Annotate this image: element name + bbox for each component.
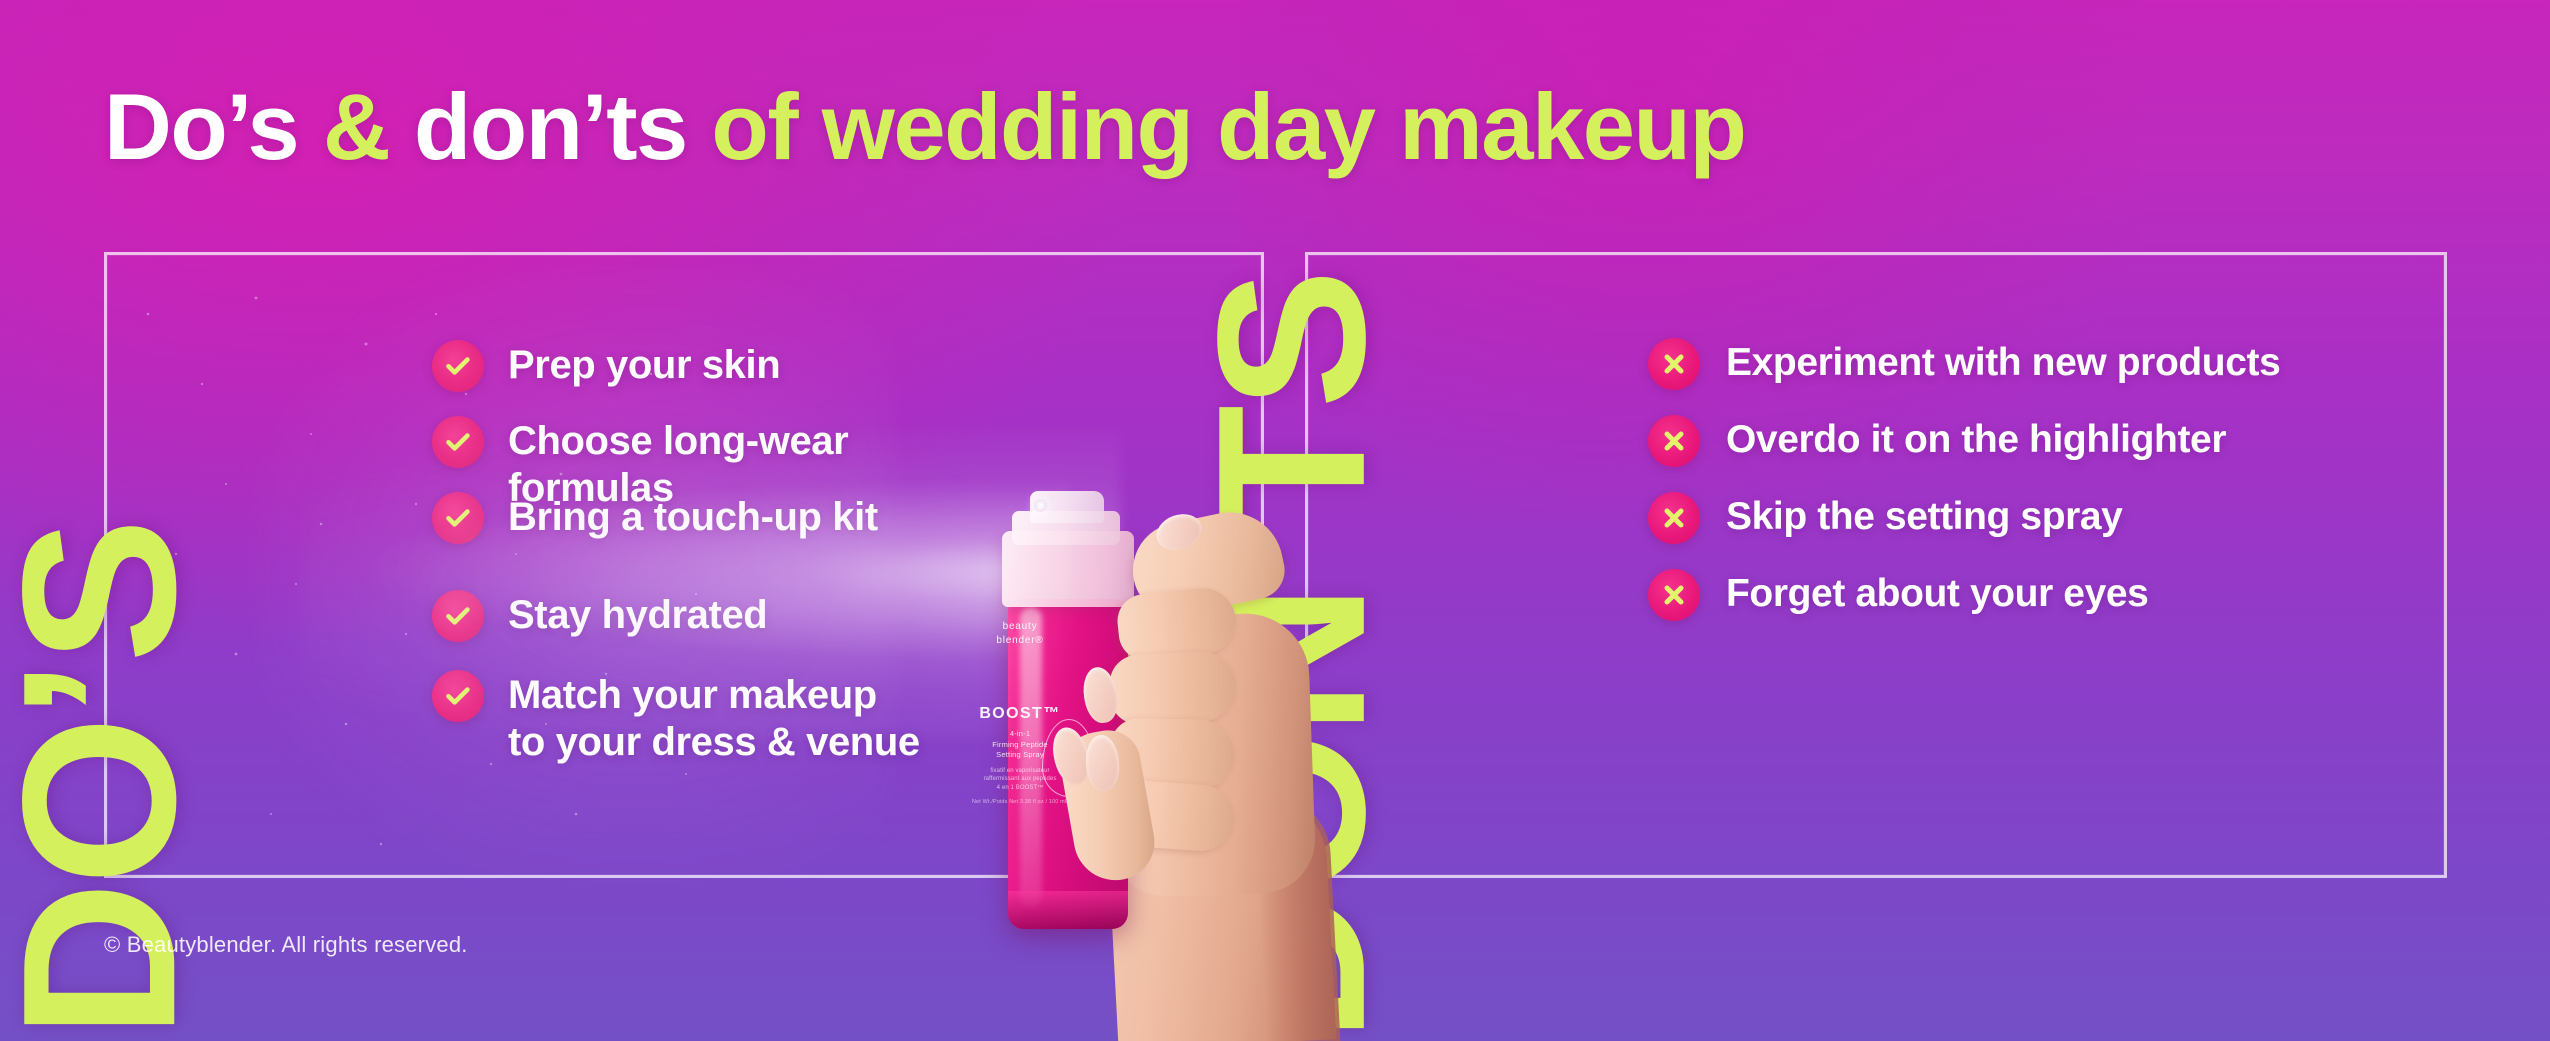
cross-icon bbox=[1648, 338, 1700, 390]
list-item-label: Prep your skin bbox=[508, 340, 780, 389]
list-item: Experiment with new products bbox=[1648, 338, 2280, 390]
list-item-label: Overdo it on the highlighter bbox=[1726, 415, 2226, 463]
infographic-canvas: Do’s & don’ts of wedding day makeup DO’S bbox=[0, 0, 2550, 1041]
list-item-label: Forget about your eyes bbox=[1726, 569, 2148, 617]
finger bbox=[1108, 650, 1237, 726]
headline-segment-dos: Do’s bbox=[104, 74, 323, 179]
list-item: Match your makeup to your dress & venue bbox=[432, 670, 920, 766]
list-item: Overdo it on the highlighter bbox=[1648, 415, 2226, 467]
check-icon bbox=[432, 492, 484, 544]
check-icon bbox=[432, 590, 484, 642]
list-item-label: Experiment with new products bbox=[1726, 338, 2280, 386]
list-item-label: Skip the setting spray bbox=[1726, 492, 2122, 540]
cross-icon bbox=[1648, 415, 1700, 467]
bottle-highlight bbox=[1020, 607, 1042, 907]
dos-section-label: DO’S bbox=[11, 522, 190, 1039]
headline-segment-tail: of wedding day makeup bbox=[711, 74, 1745, 179]
list-item: Skip the setting spray bbox=[1648, 492, 2122, 544]
cross-icon bbox=[1648, 569, 1700, 621]
check-icon bbox=[432, 416, 484, 468]
list-item: Bring a touch-up kit bbox=[432, 492, 878, 544]
check-icon bbox=[432, 670, 484, 722]
list-item: Forget about your eyes bbox=[1648, 569, 2148, 621]
page-title: Do’s & don’ts of wedding day makeup bbox=[104, 78, 1745, 177]
cross-icon bbox=[1648, 492, 1700, 544]
bottle-base-shadow bbox=[1008, 891, 1128, 929]
headline-ampersand: & bbox=[323, 74, 389, 179]
check-icon bbox=[432, 340, 484, 392]
list-item-label: Stay hydrated bbox=[508, 590, 767, 639]
list-item: Prep your skin bbox=[432, 340, 780, 392]
list-item: Stay hydrated bbox=[432, 590, 767, 642]
list-item-label: Match your makeup to your dress & venue bbox=[508, 670, 920, 766]
nozzle-aperture bbox=[1034, 499, 1047, 512]
list-item-label: Bring a touch-up kit bbox=[508, 492, 878, 541]
copyright-notice: © Beautyblender. All rights reserved. bbox=[104, 932, 468, 958]
headline-segment-donts: don’ts bbox=[389, 74, 711, 179]
hand-holding-product-photo: beauty blender® BOOST™ 4-in-1 Firming Pe… bbox=[960, 495, 1390, 1041]
